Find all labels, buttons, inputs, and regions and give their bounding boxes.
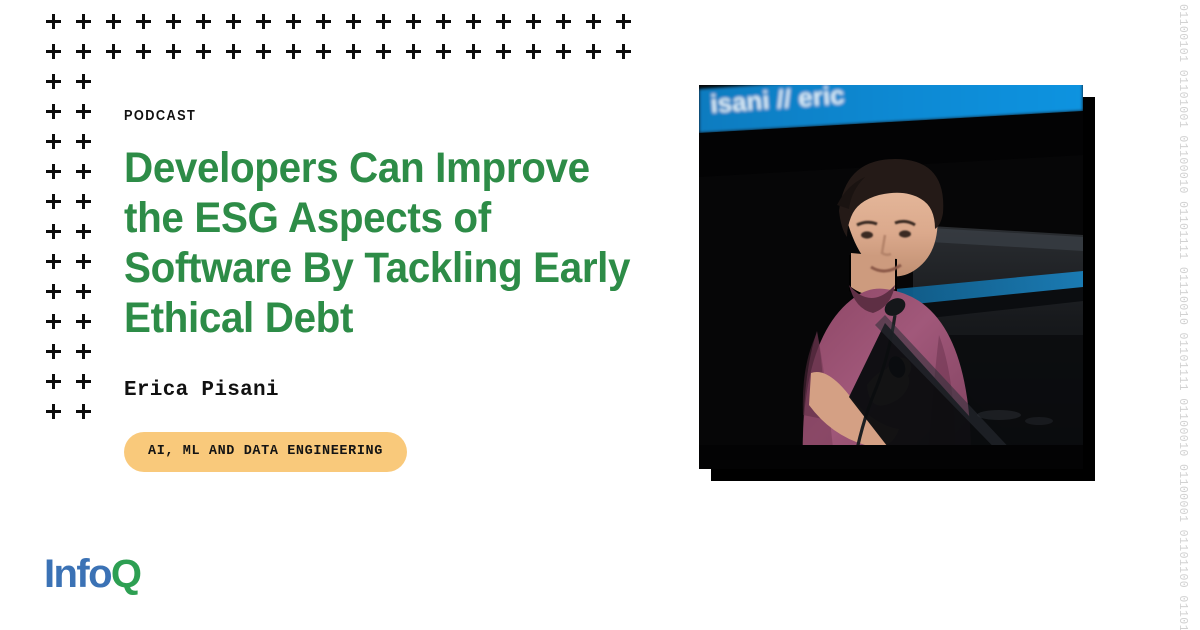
plus-row xyxy=(44,42,644,72)
plus-icon xyxy=(284,42,314,72)
logo-info-part: Info xyxy=(44,552,111,596)
plus-icon xyxy=(404,42,434,72)
plus-icon xyxy=(44,192,74,222)
plus-icon xyxy=(464,42,494,72)
plus-icon xyxy=(164,12,194,42)
plus-icon xyxy=(404,12,434,42)
plus-icon xyxy=(74,132,104,162)
plus-icon xyxy=(104,12,134,42)
topic-tag-badge[interactable]: AI, ML AND DATA ENGINEERING xyxy=(124,432,407,472)
infoq-logo-text: InfoQ xyxy=(44,552,140,596)
binary-text: 01100101 01101001 01100010 01101111 0111… xyxy=(1176,4,1189,630)
plus-icon xyxy=(44,342,74,372)
plus-icon xyxy=(524,42,554,72)
speaker-photo-illustration: isani // eric xyxy=(699,85,1083,469)
plus-icon xyxy=(74,162,104,192)
plus-icon xyxy=(224,42,254,72)
plus-icon xyxy=(44,402,74,432)
plus-icon xyxy=(614,42,644,72)
plus-icon xyxy=(44,162,74,192)
plus-icon xyxy=(44,252,74,282)
plus-icon xyxy=(374,12,404,42)
plus-icon xyxy=(134,42,164,72)
plus-icon xyxy=(224,12,254,42)
plus-icon xyxy=(434,42,464,72)
author-name: Erica Pisani xyxy=(124,379,684,402)
logo-q-part: Q xyxy=(111,552,141,596)
plus-icon xyxy=(584,12,614,42)
plus-icon xyxy=(44,132,74,162)
plus-icon xyxy=(44,222,74,252)
plus-icon xyxy=(44,312,74,342)
plus-icon xyxy=(374,42,404,72)
plus-icon xyxy=(74,252,104,282)
plus-icon xyxy=(74,12,104,42)
plus-icon xyxy=(164,42,194,72)
plus-icon xyxy=(44,282,74,312)
plus-icon xyxy=(314,12,344,42)
page-title: Developers Can Improve the ESG Aspects o… xyxy=(124,143,660,343)
plus-icon xyxy=(524,12,554,42)
plus-icon xyxy=(314,42,344,72)
plus-icon xyxy=(494,12,524,42)
plus-icon xyxy=(494,42,524,72)
plus-row xyxy=(44,72,644,102)
plus-icon xyxy=(44,372,74,402)
plus-icon xyxy=(74,72,104,102)
content-type-label: PODCAST xyxy=(124,108,617,124)
plus-icon xyxy=(554,12,584,42)
plus-icon xyxy=(74,402,104,432)
plus-icon xyxy=(74,42,104,72)
speaker-photo: isani // eric xyxy=(699,85,1083,469)
plus-row xyxy=(44,12,644,42)
plus-icon xyxy=(44,12,74,42)
plus-icon xyxy=(254,42,284,72)
plus-icon xyxy=(104,42,134,72)
plus-icon xyxy=(464,12,494,42)
plus-icon xyxy=(344,12,374,42)
plus-icon xyxy=(284,12,314,42)
podcast-promo-card: 01100101 01101001 01100010 01101111 0111… xyxy=(0,0,1200,630)
plus-icon xyxy=(554,42,584,72)
tag-row: AI, ML AND DATA ENGINEERING xyxy=(124,432,684,472)
plus-icon xyxy=(74,342,104,372)
plus-icon xyxy=(584,42,614,72)
infoq-logo[interactable]: InfoQ xyxy=(44,552,140,596)
plus-icon xyxy=(74,312,104,342)
speaker-photo-container: isani // eric xyxy=(699,85,1095,481)
plus-icon xyxy=(44,102,74,132)
binary-strip-decoration: 01100101 01101001 01100010 01101111 0111… xyxy=(1164,0,1200,630)
content-column: PODCAST Developers Can Improve the ESG A… xyxy=(124,108,684,472)
plus-icon xyxy=(44,42,74,72)
plus-icon xyxy=(74,372,104,402)
plus-icon xyxy=(134,12,164,42)
plus-icon xyxy=(194,42,224,72)
plus-icon xyxy=(254,12,284,42)
plus-icon xyxy=(74,102,104,132)
plus-icon xyxy=(44,72,74,102)
plus-icon xyxy=(74,192,104,222)
plus-icon xyxy=(74,282,104,312)
plus-icon xyxy=(434,12,464,42)
plus-icon xyxy=(74,222,104,252)
plus-icon xyxy=(614,12,644,42)
plus-icon xyxy=(344,42,374,72)
plus-icon xyxy=(194,12,224,42)
